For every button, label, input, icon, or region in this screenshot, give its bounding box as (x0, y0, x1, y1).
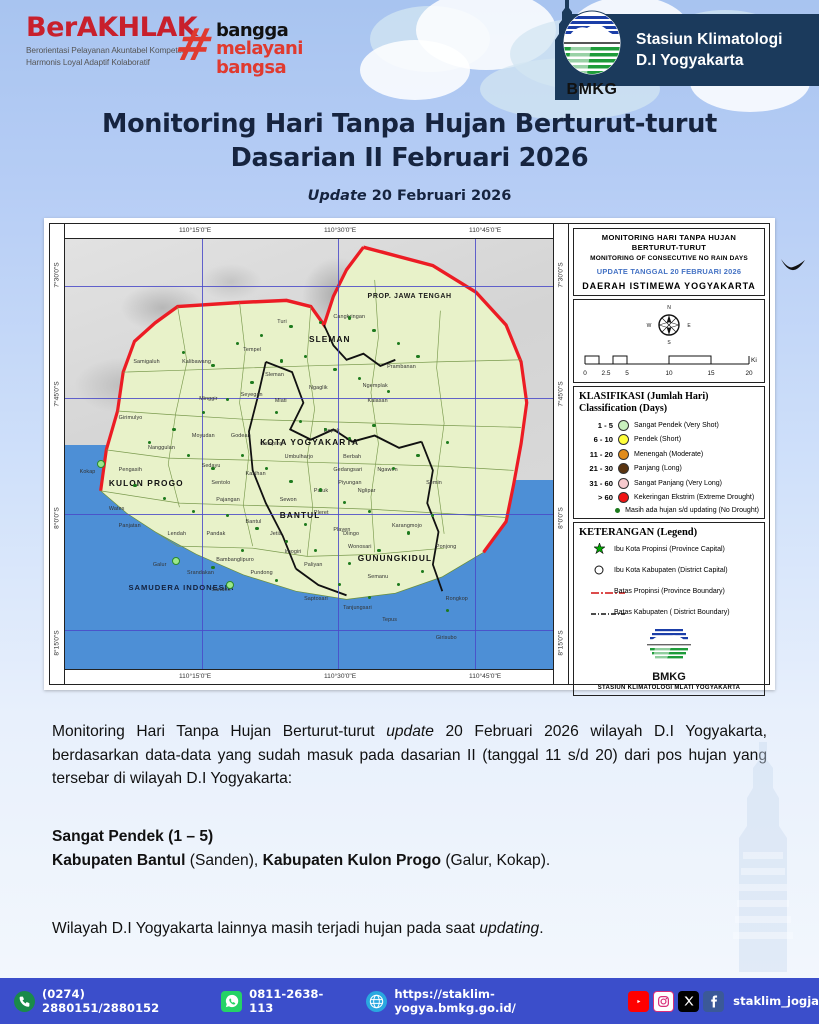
label-district: Paliyan (304, 562, 322, 568)
label-district: Turi (277, 319, 286, 325)
svg-text:10: 10 (665, 370, 673, 377)
circle-icon (591, 562, 607, 580)
footer-social[interactable]: staklim_jogja (628, 991, 819, 1012)
swatch-very-short (618, 420, 629, 431)
bangga-melayani-bangsa-logo: bangga melayani bangsa (216, 22, 303, 77)
bird-icon (780, 258, 806, 272)
footer-social-handle: staklim_jogja (733, 994, 819, 1008)
dashdot-red-line-icon (591, 583, 607, 601)
label-district: Moyudan (192, 433, 215, 439)
lat-label-left-0: 7°30'0"S (54, 262, 61, 287)
label-district: Samigaluh (133, 359, 159, 365)
page-title: Monitoring Hari Tanpa Hujan Berturut-tur… (0, 108, 819, 176)
legend-compass-scale-box: N S W E 02.55 (573, 299, 765, 383)
legend-province-name: DAERAH ISTIMEWA YOGYAKARTA (579, 281, 759, 291)
classification-heading-en: Classification (Days) (579, 403, 759, 416)
label-sleman: SLEMAN (309, 334, 351, 344)
closing-part-a: Wilayah D.I Yogyakarta lainnya masih ter… (52, 920, 479, 937)
youtube-icon[interactable] (628, 991, 649, 1012)
berakhlak-ber: Ber (26, 12, 77, 43)
graticule-vertical-3 (475, 239, 476, 669)
update-date: 20 Februari 2026 (372, 188, 512, 204)
desc-update-em: update (386, 723, 434, 740)
label-kulon-progo: KULON PROGO (109, 478, 184, 488)
footer-whatsapp-text: 0811-2638-113 (249, 987, 340, 1015)
region-bantul: Kabupaten Bantul (52, 852, 185, 869)
lon-label-top-2: 110°45'0"E (469, 227, 501, 234)
svg-text:20: 20 (745, 370, 753, 377)
label-district: Pundong (250, 570, 272, 576)
swatch-extreme-drought (618, 492, 629, 503)
svg-text:2.5: 2.5 (602, 370, 611, 377)
contact-footer: (0274) 2880151/2880152 0811-2638-113 htt… (0, 978, 819, 1024)
region-kulon-progo-districts: (Galur, Kokap). (441, 852, 550, 869)
label-district: Imogiri (285, 549, 302, 555)
tugu-watermark (715, 742, 811, 972)
bmkg-station-line-2: D.I Yogyakarta (636, 50, 783, 71)
map-canvas[interactable]: 110°15'0"E 110°30'0"E 110°45'0"E 110°15'… (50, 224, 569, 684)
legend-bmkg-text: BMKG (579, 671, 759, 683)
lon-label-top-1: 110°30'0"E (324, 227, 356, 234)
label-district: Kalibawang (182, 359, 211, 365)
closing-paragraph: Wilayah D.I Yogyakarta lainnya masih ter… (52, 920, 767, 938)
label-district: Pajangan (216, 497, 240, 503)
closing-part-b: . (539, 920, 543, 937)
graticule-vertical-1 (202, 239, 203, 669)
label-district: Pengasih (119, 467, 142, 473)
lon-label-bot-1: 110°30'0"E (324, 673, 356, 680)
classification-row: 31 - 60 Sangat Panjang (Very Long) (579, 478, 759, 489)
label-district: Godean (231, 433, 251, 439)
label-district: Karangmojo (392, 523, 422, 529)
footer-website-text: https://staklim-yogya.bmkg.go.id/ (394, 987, 602, 1015)
classification-row: 21 - 30 Panjang (Long) (579, 463, 759, 474)
whatsapp-icon (221, 991, 242, 1012)
svg-text:Kilometers: Kilometers (751, 357, 757, 364)
label-district: Kalasan (368, 398, 388, 404)
label-jawa-tengah: PROP. JAWA TENGAH (368, 293, 452, 300)
label-district: Rongkop (446, 596, 468, 602)
instagram-icon[interactable] (653, 991, 674, 1012)
lat-label-right-3: 8°15'0"S (558, 630, 565, 655)
legend-title-id-1: MONITORING HARI TANPA HUJAN (579, 233, 759, 243)
page-title-line-2: Dasarian II Februari 2026 (0, 142, 819, 176)
label-district: Nanggulan (148, 445, 175, 451)
lat-label-left-3: 8°15'0"S (54, 630, 61, 655)
svg-text:N: N (667, 305, 671, 311)
label-district: Girimulyo (119, 415, 143, 421)
label-district: Bantul (246, 519, 262, 525)
map-container: 110°15'0"E 110°30'0"E 110°45'0"E 110°15'… (44, 218, 775, 690)
category-block: Sangat Pendek (1 – 5) Kabupaten Bantul (… (52, 825, 767, 872)
classification-row: 11 - 20 Menengah (Moderate) (579, 449, 759, 460)
keterangan-row: Batas Kabupaten ( District Boundary) (579, 604, 759, 622)
keterangan-row: Batas Propinsi (Province Boundary) (579, 583, 759, 601)
label-district: Piyungan (338, 480, 361, 486)
description-paragraph: Monitoring Hari Tanpa Hujan Berturut-tur… (52, 720, 767, 791)
map-frame: 110°15'0"E 110°30'0"E 110°45'0"E 110°15'… (49, 223, 770, 685)
swatch-long (618, 463, 629, 474)
bmkg-logo: BMKG (561, 10, 623, 96)
label-district: Tanjungsari (343, 605, 372, 611)
desc-part-a: Monitoring Hari Tanpa Hujan Berturut-tur… (52, 723, 386, 740)
label-district: Seyegan (241, 392, 263, 398)
map-latitude-axis-right: 7°30'0"S 7°45'0"S 8°0'0"S 8°15'0"S (553, 224, 568, 684)
label-district: Minggir (199, 396, 217, 402)
svg-text:W: W (647, 323, 652, 329)
legend-keterangan-box: KETERANGAN (Legend) Ibu Kota Propinsi (P… (573, 522, 765, 696)
graticule-horizontal-4 (65, 630, 553, 631)
label-district: Pandak (207, 531, 226, 537)
footer-phone-text: (0274) 2880151/2880152 (42, 987, 195, 1015)
label-district: Playen (333, 527, 350, 533)
label-district: Kasihan (246, 471, 266, 477)
label-district-galur: Galur (153, 562, 167, 568)
bangga-line-3: bangsa (216, 59, 303, 77)
swatch-moderate (618, 449, 629, 460)
legend-title-en: MONITORING OF CONSECUTIVE NO RAIN DAYS (579, 255, 759, 262)
category-heading: Sangat Pendek (1 – 5) (52, 825, 767, 849)
svg-text:5: 5 (625, 370, 629, 377)
dashdot-black-line-icon (591, 604, 607, 622)
globe-icon (366, 991, 387, 1012)
footer-whatsapp[interactable]: 0811-2638-113 (221, 987, 340, 1015)
label-district: Nglipar (358, 488, 376, 494)
legend-update-date: UPDATE TANGGAL 20 FEBRUARI 2026 (579, 267, 759, 276)
label-district: Tepus (382, 617, 397, 623)
lat-label-right-0: 7°30'0"S (558, 262, 565, 287)
label-district: Wonosari (348, 544, 371, 550)
lat-label-left-1: 7°45'0"S (54, 382, 61, 407)
label-district: Wates (109, 506, 125, 512)
legend-classification-box: KLASIFIKASI (Jumlah Hari) Classification… (573, 386, 765, 519)
keterangan-row: Ibu Kota Kabupaten (District Capital) (579, 562, 759, 580)
star-icon (591, 541, 607, 559)
lat-label-left-2: 8°0'0"S (54, 508, 61, 530)
label-district: Ponjong (436, 544, 456, 550)
keterangan-heading: KETERANGAN (Legend) (579, 527, 759, 538)
lat-label-right-2: 8°0'0"S (558, 508, 565, 530)
label-district: Saptosari (304, 596, 328, 602)
swatch-no-drought (615, 508, 620, 513)
x-icon[interactable] (678, 991, 699, 1012)
label-district: Umbulharjo (285, 454, 314, 460)
svg-text:E: E (687, 323, 691, 329)
label-district: Gedangsari (333, 467, 362, 473)
lon-label-bot-2: 110°45'0"E (469, 673, 501, 680)
region-bantul-districts: (Sanden), (185, 852, 262, 869)
classification-heading-id: KLASIFIKASI (Jumlah Hari) (579, 391, 759, 404)
berakhlak-logo: BerAKHLAK Berorientasi Pelayanan Akuntab… (26, 14, 326, 68)
label-district: Sentolo (211, 480, 230, 486)
legend-title-id-2: BERTURUT-TURUT (579, 243, 759, 253)
classification-row: 1 - 5 Sangat Pendek (Very Shot) (579, 420, 759, 431)
update-subtitle: Update 20 Februari 2026 (0, 188, 819, 204)
facebook-icon[interactable] (703, 991, 724, 1012)
bmkg-logo-text: BMKG (561, 81, 623, 99)
legend-bmkg-logo: BMKG (579, 627, 759, 683)
compass-rose-icon: N S W E (646, 303, 692, 345)
svg-text:15: 15 (707, 370, 715, 377)
legend-station-footer: STASIUN KLIMATOLOGI MLATI YOGYAKARTA (579, 685, 759, 691)
classification-row-no-drought: Masih ada hujan s/d updating (No Drought… (579, 507, 759, 514)
label-district: Lendah (167, 531, 186, 537)
classification-row: 6 - 10 Pendek (Short) (579, 434, 759, 445)
swatch-short (618, 434, 629, 445)
phone-icon (14, 991, 35, 1012)
map-legend-panel: MONITORING HARI TANPA HUJAN BERTURUT-TUR… (569, 224, 769, 684)
classification-row: > 60 Kekeringan Ekstrim (Extreme Drought… (579, 492, 759, 503)
graticule-horizontal-2 (65, 398, 553, 399)
label-district: Semin (426, 480, 442, 486)
svg-text:0: 0 (583, 370, 587, 377)
label-district: Prambanan (387, 364, 416, 370)
update-label: Update (308, 188, 367, 204)
svg-text:S: S (667, 340, 671, 345)
page-title-line-1: Monitoring Hari Tanpa Hujan Berturut-tur… (0, 108, 819, 142)
label-district: Girisubo (436, 635, 457, 641)
map-longitude-axis-bottom: 110°15'0"E 110°30'0"E 110°45'0"E (50, 669, 568, 684)
label-district: Ngemplak (363, 383, 388, 389)
swatch-very-long (618, 478, 629, 489)
closing-updating-em: updating (479, 920, 539, 937)
label-district: Semanu (368, 574, 389, 580)
lon-label-top-0: 110°15'0"E (179, 227, 211, 234)
footer-phone[interactable]: (0274) 2880151/2880152 (14, 987, 195, 1015)
label-district: Sleman (265, 372, 284, 378)
label-gunungkidul: GUNUNGKIDUL (358, 553, 432, 563)
footer-website[interactable]: https://staklim-yogya.bmkg.go.id/ (366, 987, 602, 1015)
label-district-kokap: Kokap (80, 469, 96, 475)
label-district: Berbah (343, 454, 361, 460)
map-longitude-axis-top: 110°15'0"E 110°30'0"E 110°45'0"E (50, 224, 568, 239)
label-district: Ngaglik (309, 385, 328, 391)
bmkg-station-line-1: Stasiun Klimatologi (636, 29, 783, 50)
label-district: Pleret (314, 510, 329, 516)
graticule-vertical-2 (338, 239, 339, 669)
region-kulon-progo: Kabupaten Kulon Progo (263, 852, 441, 869)
map-latitude-axis-left: 7°30'0"S 7°45'0"S 8°0'0"S 8°15'0"S (50, 224, 65, 684)
legend-title-box: MONITORING HARI TANPA HUJAN BERTURUT-TUR… (573, 228, 765, 296)
label-district: Srandakan (187, 570, 214, 576)
lon-label-bot-0: 110°15'0"E (179, 673, 211, 680)
label-district: Bambanglipuro (216, 557, 254, 563)
graticule-horizontal-1 (65, 286, 553, 287)
label-district: Jetis (270, 531, 282, 537)
label-district: Panjatan (119, 523, 141, 529)
map-plot-area: PROP. JAWA TENGAH SAMUDERA INDONESIA SLE… (65, 239, 553, 669)
lat-label-right-1: 7°45'0"S (558, 382, 565, 407)
label-district: Gamping (260, 441, 283, 447)
label-district: Tempel (243, 347, 261, 353)
label-district: Sewon (280, 497, 297, 503)
label-district: Mlati (275, 398, 287, 404)
affected-regions: Kabupaten Bantul (Sanden), Kabupaten Kul… (52, 849, 767, 873)
bangga-line-2: melayani (216, 40, 303, 58)
station-sanden (226, 581, 234, 589)
scale-bar: 02.55 101520 Kilometers (579, 352, 759, 378)
keterangan-row: Ibu Kota Propinsi (Province Capital) (579, 541, 759, 559)
